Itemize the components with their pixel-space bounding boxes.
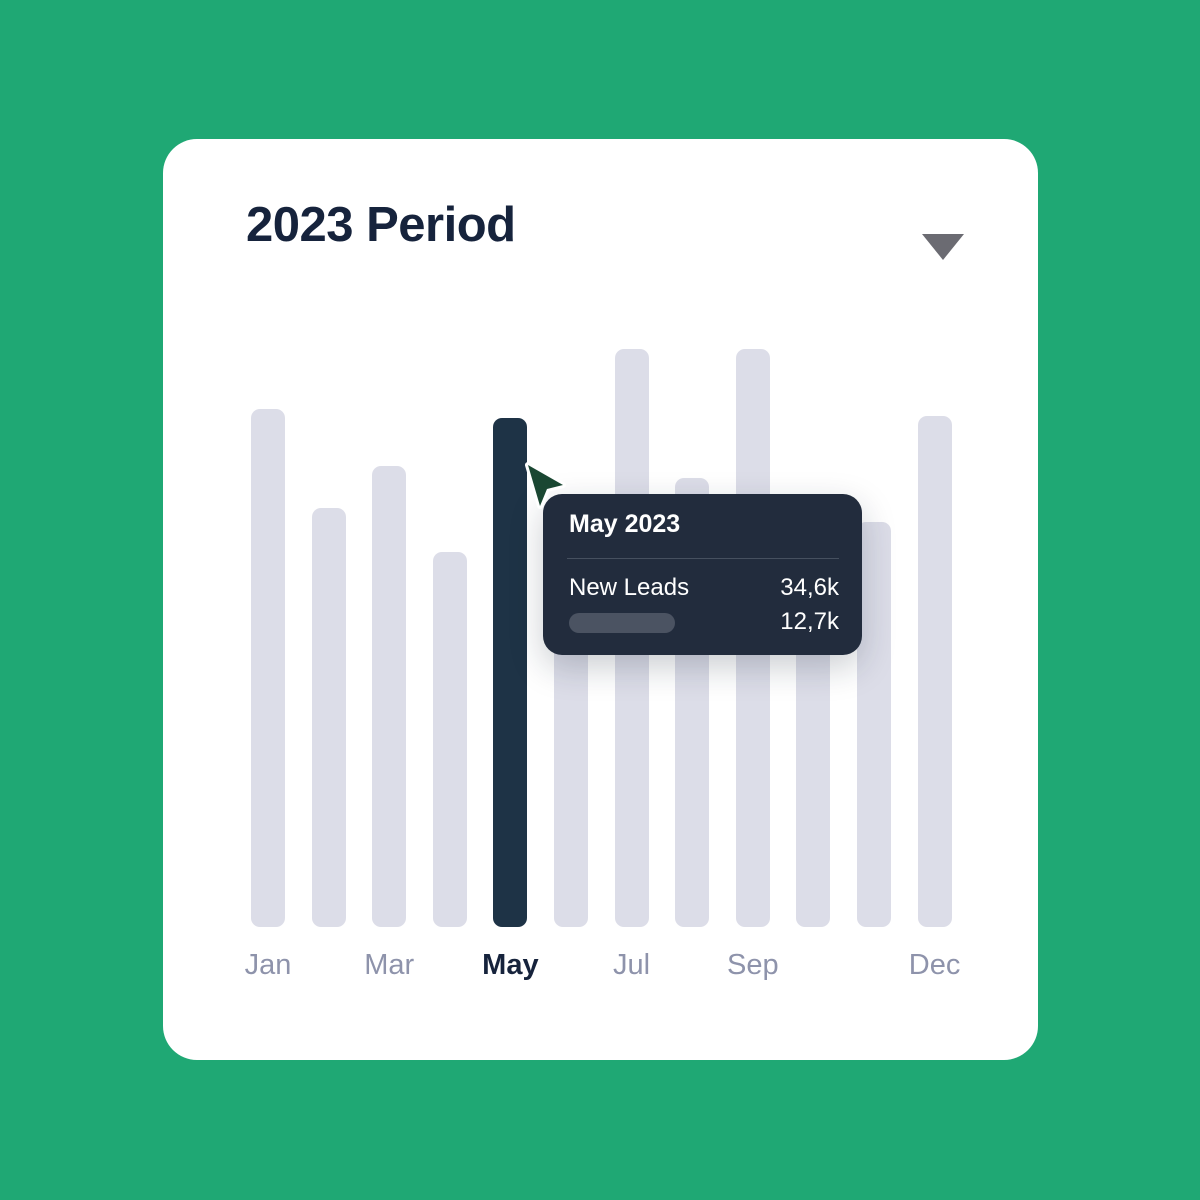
bar-may[interactable] [493, 418, 527, 927]
tooltip-row-label-placeholder [569, 613, 675, 633]
x-axis-label-may: May [482, 949, 538, 982]
x-axis-label-dec: Dec [909, 949, 961, 982]
chart-card: 2023 Period JanMarMayJulSepDec May 2023 … [163, 139, 1038, 1060]
tooltip-row-label: New Leads [569, 574, 689, 602]
bar-feb[interactable] [312, 508, 346, 927]
x-axis-label-jan: Jan [245, 949, 292, 982]
tooltip-divider [567, 558, 839, 559]
tooltip-title: May 2023 [569, 510, 680, 539]
chart-tooltip: May 2023 New Leads 34,6k 12,7k [543, 494, 862, 655]
x-axis: JanMarMayJulSepDec [163, 949, 1038, 1009]
x-axis-label-sep: Sep [727, 949, 779, 982]
tooltip-row-value: 34,6k [780, 574, 839, 602]
tooltip-row: 12,7k [567, 608, 839, 642]
bar-jan[interactable] [251, 409, 285, 927]
x-axis-label-jul: Jul [613, 949, 650, 982]
tooltip-row: New Leads 34,6k [567, 574, 839, 608]
bar-apr[interactable] [433, 552, 467, 927]
x-axis-label-mar: Mar [364, 949, 414, 982]
tooltip-row-value: 12,7k [780, 608, 839, 636]
bar-nov[interactable] [857, 522, 891, 927]
bar-mar[interactable] [372, 466, 406, 927]
bar-dec[interactable] [918, 416, 952, 927]
